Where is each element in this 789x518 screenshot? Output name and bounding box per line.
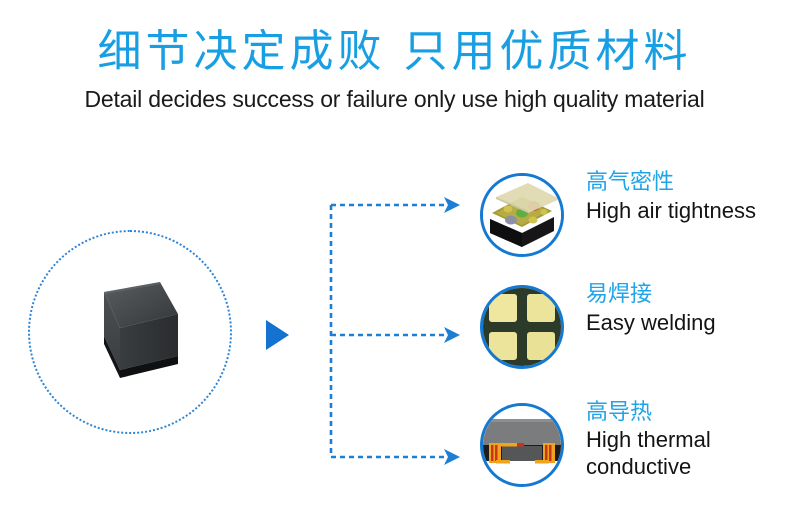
feature-thumbnail-2[interactable] <box>480 285 564 369</box>
play-arrow-icon <box>266 320 289 350</box>
feature-label-group-1: 高气密性 High air tightness <box>586 169 789 224</box>
feature-label-cn-3: 高导热 <box>586 399 789 426</box>
product-illustration <box>28 230 228 430</box>
feature-label-en-1: High air tightness <box>586 197 789 224</box>
feature-label-en-2: Easy welding <box>586 309 789 336</box>
feature-label-cn-2: 易焊接 <box>586 281 789 308</box>
slide-canvas: 细节决定成败 只用优质材料 Detail decides success or … <box>0 0 789 518</box>
package-cross-section-icon <box>480 403 564 487</box>
feature-label-group-2: 易焊接 Easy welding <box>586 281 789 336</box>
product-cube-icon <box>74 274 186 386</box>
page-subtitle: Detail decides success or failure only u… <box>0 84 789 114</box>
feature-thumbnail-3[interactable] <box>480 403 564 487</box>
four-gold-pads-grid-icon <box>480 285 564 369</box>
header-block: 细节决定成败 只用优质材料 Detail decides success or … <box>0 26 789 114</box>
package-with-lid-open-icon <box>480 173 564 257</box>
arrow-head-group <box>444 197 460 465</box>
dashed-connector-bracket <box>320 185 470 475</box>
page-title: 细节决定成败 只用优质材料 <box>0 26 789 78</box>
feature-thumbnail-1[interactable] <box>480 173 564 257</box>
feature-label-cn-1: 高气密性 <box>586 169 789 196</box>
feature-label-en-3-line1: High thermal <box>586 427 789 453</box>
feature-label-en-3-line2: conductive <box>586 454 789 480</box>
feature-label-group-3: 高导热 High thermal conductive <box>586 399 789 480</box>
